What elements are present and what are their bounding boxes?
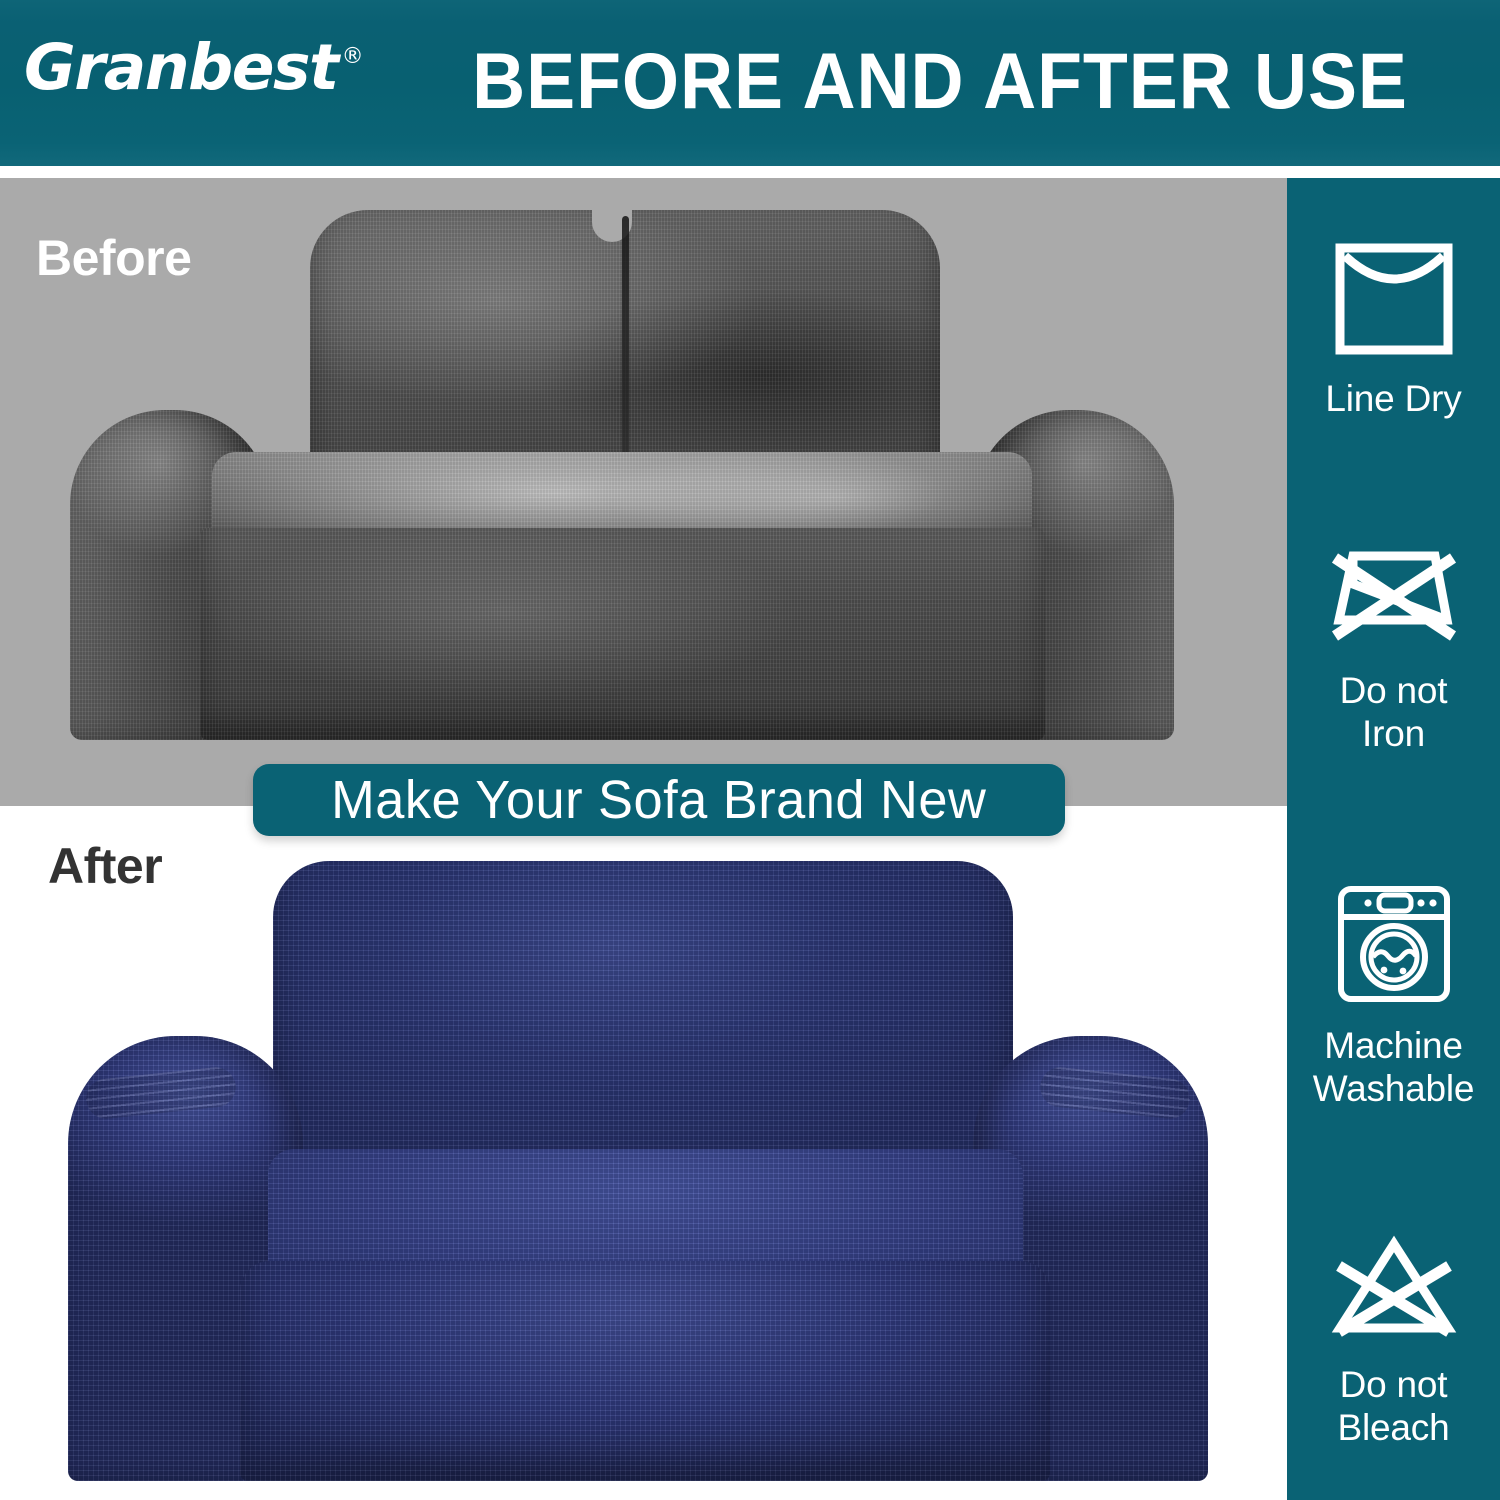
old-sofa-base [200, 528, 1045, 740]
do-not-bleach-icon [1329, 1232, 1459, 1349]
do-not-iron-icon [1323, 532, 1465, 655]
after-label: After [48, 841, 162, 891]
jacquard-texture [273, 861, 1013, 1191]
care-item-machine-washable: Machine Washable [1287, 883, 1500, 1110]
product-infographic: Granbest® BEFORE AND AFTER USE Before Af… [0, 0, 1500, 1500]
after-sofa-image [68, 861, 1208, 1481]
old-sofa-seat-cushion [212, 452, 1032, 538]
old-sofa-back-notch [592, 206, 632, 242]
care-label: Machine Washable [1313, 1024, 1475, 1110]
registered-trademark-icon: ® [342, 44, 364, 69]
tagline-banner: Make Your Sofa Brand New [253, 764, 1065, 836]
care-instructions-sidebar: Line Dry Do not Iron [1287, 178, 1500, 1500]
brand-name: Granbest [24, 31, 338, 104]
after-panel: After [0, 806, 1287, 1500]
care-item-line-dry: Line Dry [1287, 240, 1500, 420]
tagline-text: Make Your Sofa Brand New [331, 769, 986, 831]
old-fabric-texture [200, 528, 1045, 740]
old-fabric-texture [212, 452, 1032, 538]
header-bar: Granbest® BEFORE AND AFTER USE [0, 0, 1500, 166]
before-sofa-image [62, 210, 1182, 740]
before-panel: Before [0, 178, 1287, 806]
care-label: Do not Bleach [1338, 1363, 1450, 1449]
page-title: BEFORE AND AFTER USE [438, 22, 1442, 140]
care-item-do-not-bleach: Do not Bleach [1287, 1232, 1500, 1449]
line-dry-icon [1332, 240, 1456, 363]
care-label: Line Dry [1325, 377, 1461, 420]
care-label: Do not Iron [1340, 669, 1448, 755]
brand-logo: Granbest® [24, 36, 364, 99]
new-sofa-front-skirt [240, 1261, 1050, 1481]
machine-washable-icon [1333, 883, 1455, 1010]
care-item-do-not-iron: Do not Iron [1287, 532, 1500, 755]
new-sofa-backrest [273, 861, 1013, 1191]
before-label: Before [36, 233, 191, 283]
jacquard-texture [240, 1261, 1050, 1481]
